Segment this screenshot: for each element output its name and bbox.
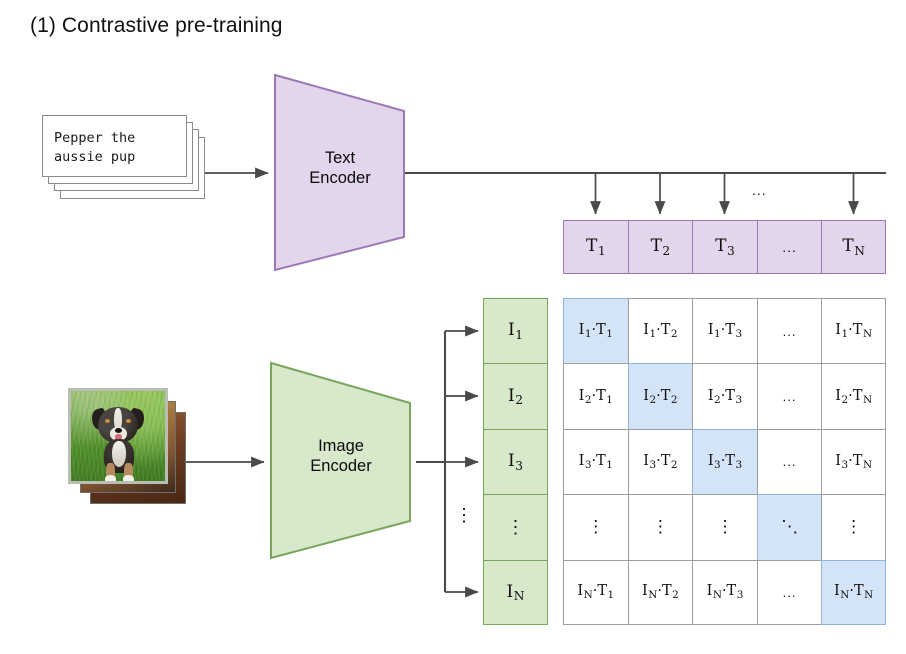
text-embedding-cell-2: T2 (628, 220, 693, 274)
image-input-stack[interactable] (68, 388, 198, 513)
text-embedding-cell-ellipsis: ... (757, 220, 822, 274)
text-embedding-cell-3: T3 (692, 220, 757, 274)
text-embedding-row: T1T2T3...TN (563, 220, 886, 274)
text-embedding-cell-1: T1 (563, 220, 628, 274)
matrix-cell-3-1: I3·T1 (563, 429, 628, 494)
matrix-cell-1-1: I1·T1 (563, 298, 628, 363)
image-encoder-label: Image Encoder (266, 436, 416, 476)
image-branch-ellipsis: ⋮ (455, 505, 473, 526)
matrix-cell-N-3: IN·T3 (692, 560, 757, 625)
text-bus-ellipsis: ... (752, 182, 767, 198)
matrix-cell-N-dots: ... (757, 560, 822, 625)
image-embedding-column: I1I2I3⋮IN (483, 298, 548, 625)
image-embedding-cell-1: I1 (483, 298, 548, 363)
matrix-cell-3-3: I3·T3 (692, 429, 757, 494)
photo-front-puppy[interactable] (68, 388, 168, 484)
matrix-cell-1-N: I1·TN (821, 298, 886, 363)
matrix-cell-1-2: I1·T2 (628, 298, 693, 363)
matrix-cell-2-N: I2·TN (821, 363, 886, 428)
matrix-cell-dots-N: ⋮ (821, 494, 886, 559)
matrix-cell-3-dots: ... (757, 429, 822, 494)
text-encoder-label: Text Encoder (270, 148, 410, 188)
page-title: (1) Contrastive pre-training (30, 14, 283, 38)
text-input-stack[interactable]: Pepper the aussie pup (42, 115, 222, 215)
matrix-cell-dots-1: ⋮ (563, 494, 628, 559)
similarity-matrix: I1·T1I1·T2I1·T3...I1·TNI2·T1I2·T2I2·T3..… (563, 298, 886, 625)
image-encoder-block[interactable]: Image Encoder (266, 358, 416, 563)
matrix-cell-N-2: IN·T2 (628, 560, 693, 625)
text-embedding-cell-N: TN (821, 220, 886, 274)
text-encoder-block[interactable]: Text Encoder (270, 70, 410, 275)
text-card-front[interactable]: Pepper the aussie pup (42, 115, 187, 177)
image-embedding-cell-2: I2 (483, 363, 548, 428)
image-embedding-cell-3: I3 (483, 429, 548, 494)
matrix-cell-N-1: IN·T1 (563, 560, 628, 625)
matrix-cell-N-N: IN·TN (821, 560, 886, 625)
puppy-eye-right (126, 419, 131, 423)
matrix-cell-dots-dots: ⋱ (757, 494, 822, 559)
puppy-paw-right (123, 475, 134, 484)
matrix-cell-1-dots: ... (757, 298, 822, 363)
matrix-cell-2-2: I2·T2 (628, 363, 693, 428)
puppy-nose (115, 428, 122, 433)
matrix-cell-3-2: I3·T2 (628, 429, 693, 494)
matrix-cell-2-3: I2·T3 (692, 363, 757, 428)
matrix-cell-2-1: I2·T1 (563, 363, 628, 428)
puppy-paw-left (105, 475, 116, 484)
image-embedding-cell-ellipsis: ⋮ (483, 494, 548, 559)
text-card-caption: Pepper the aussie pup (54, 129, 135, 167)
matrix-cell-dots-3: ⋮ (692, 494, 757, 559)
matrix-cell-dots-2: ⋮ (628, 494, 693, 559)
puppy-bib (112, 441, 126, 467)
image-embedding-cell-N: IN (483, 560, 548, 625)
matrix-cell-1-3: I1·T3 (692, 298, 757, 363)
puppy-eye-left (105, 419, 110, 423)
matrix-cell-3-N: I3·TN (821, 429, 886, 494)
diagram-canvas: (1) Contrastive pre-training (0, 0, 906, 654)
matrix-cell-2-dots: ... (757, 363, 822, 428)
